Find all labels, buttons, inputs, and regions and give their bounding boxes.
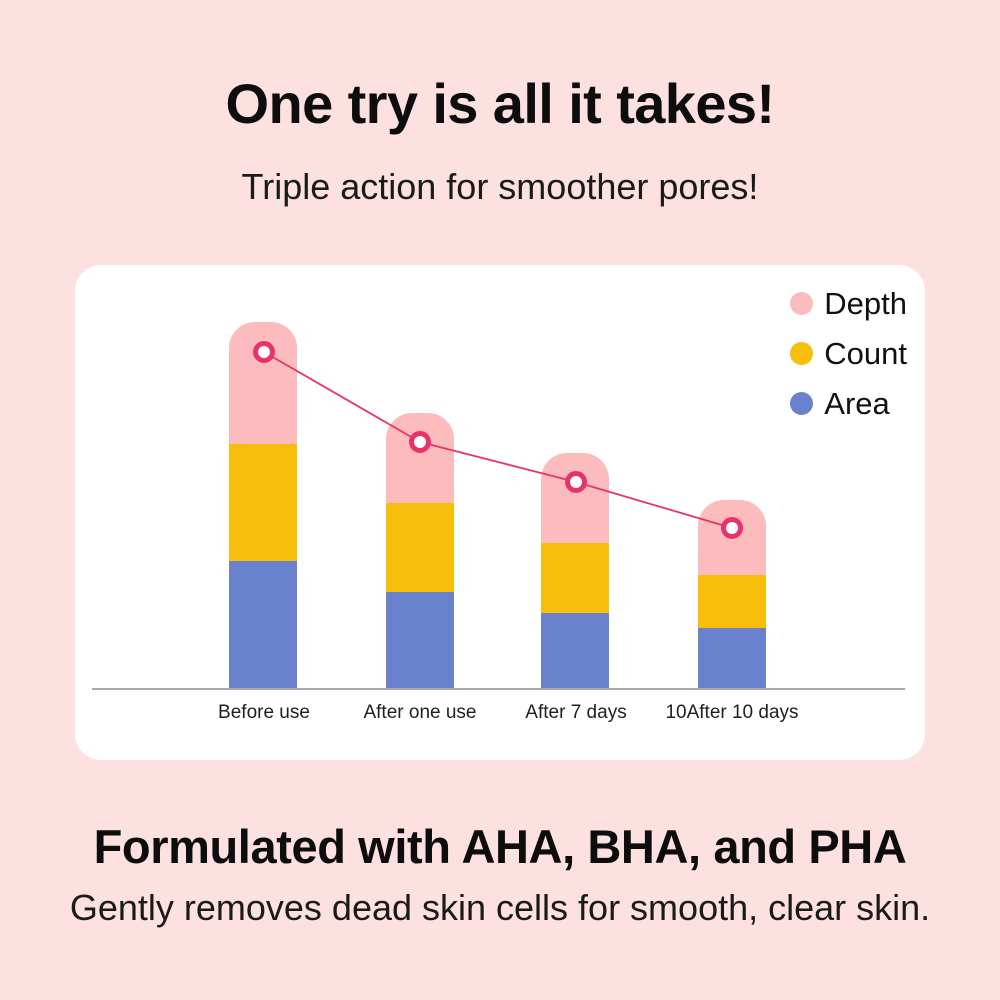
page-subtitle: Triple action for smoother pores! (0, 165, 1000, 208)
footer-title: Formulated with AHA, BHA, and PHA (0, 820, 1000, 874)
bar-segment-depth (698, 500, 766, 575)
bar-segment-depth (386, 413, 454, 503)
bar-group-before-use[interactable] (229, 322, 297, 688)
legend-swatch-area-icon (790, 392, 813, 415)
x-tick-label-0: Before use (218, 702, 310, 724)
bar-segment-count (698, 575, 766, 628)
bar-segment-count (229, 444, 297, 561)
x-tick-label-2: After 7 days (525, 702, 626, 724)
legend-label-count: Count (824, 338, 907, 369)
legend-label-depth: Depth (824, 288, 907, 319)
promo-graphic: One try is all it takes! Triple action f… (0, 0, 1000, 1000)
bar-segment-depth (229, 322, 297, 444)
chart-legend: Depth Count Area (790, 286, 907, 420)
bar-segment-area (541, 613, 609, 688)
bar-group-after-10-days[interactable] (698, 500, 766, 688)
bar-segment-area (229, 561, 297, 688)
bar-segment-depth (541, 453, 609, 543)
footer-subtitle: Gently removes dead skin cells for smoot… (0, 886, 1000, 929)
x-tick-label-1: After one use (363, 702, 476, 724)
x-axis-line (92, 688, 905, 690)
bar-segment-area (386, 592, 454, 688)
chart-card: Before use After one use After 7 days 10… (75, 265, 925, 760)
bar-group-after-7-days[interactable] (541, 453, 609, 688)
page-title: One try is all it takes! (0, 73, 1000, 136)
legend-item-depth[interactable]: Depth (790, 286, 907, 320)
legend-label-area: Area (824, 388, 889, 419)
legend-item-area[interactable]: Area (790, 386, 889, 420)
legend-item-count[interactable]: Count (790, 336, 907, 370)
legend-swatch-depth-icon (790, 292, 813, 315)
bar-segment-count (386, 503, 454, 592)
bar-segment-area (698, 628, 766, 688)
legend-swatch-count-icon (790, 342, 813, 365)
bar-group-after-one-use[interactable] (386, 413, 454, 688)
x-tick-label-3: 10After 10 days (665, 702, 798, 724)
chart-plot-area: Before use After one use After 7 days 10… (75, 265, 925, 760)
bar-segment-count (541, 543, 609, 613)
